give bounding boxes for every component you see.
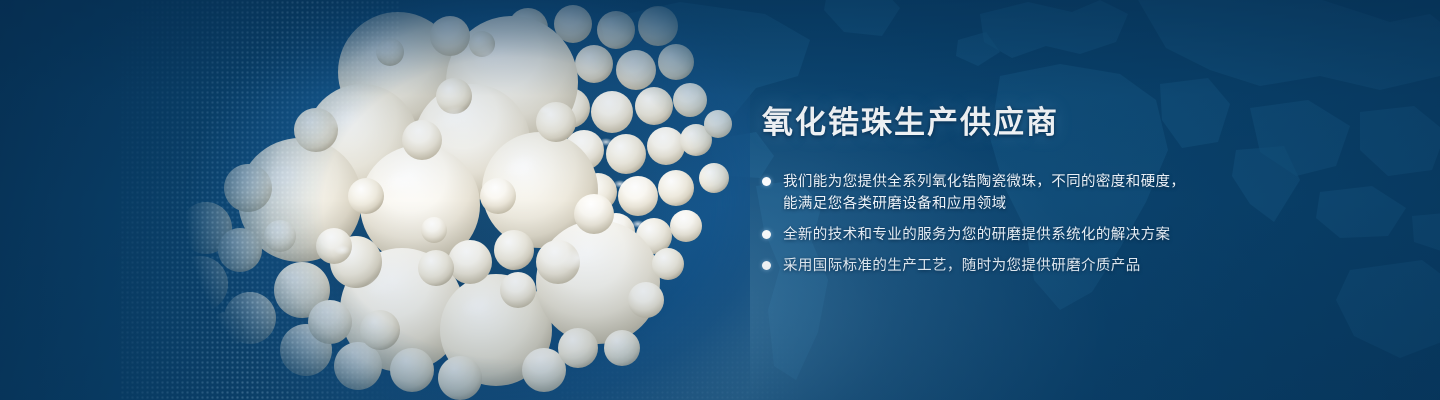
banner-top-fade xyxy=(0,0,1440,400)
zirconia-beads-banner: 氧化锆珠生产供应商 我们能为您提供全系列氧化锆陶瓷微珠，不同的密度和硬度， 能满… xyxy=(0,0,1440,400)
